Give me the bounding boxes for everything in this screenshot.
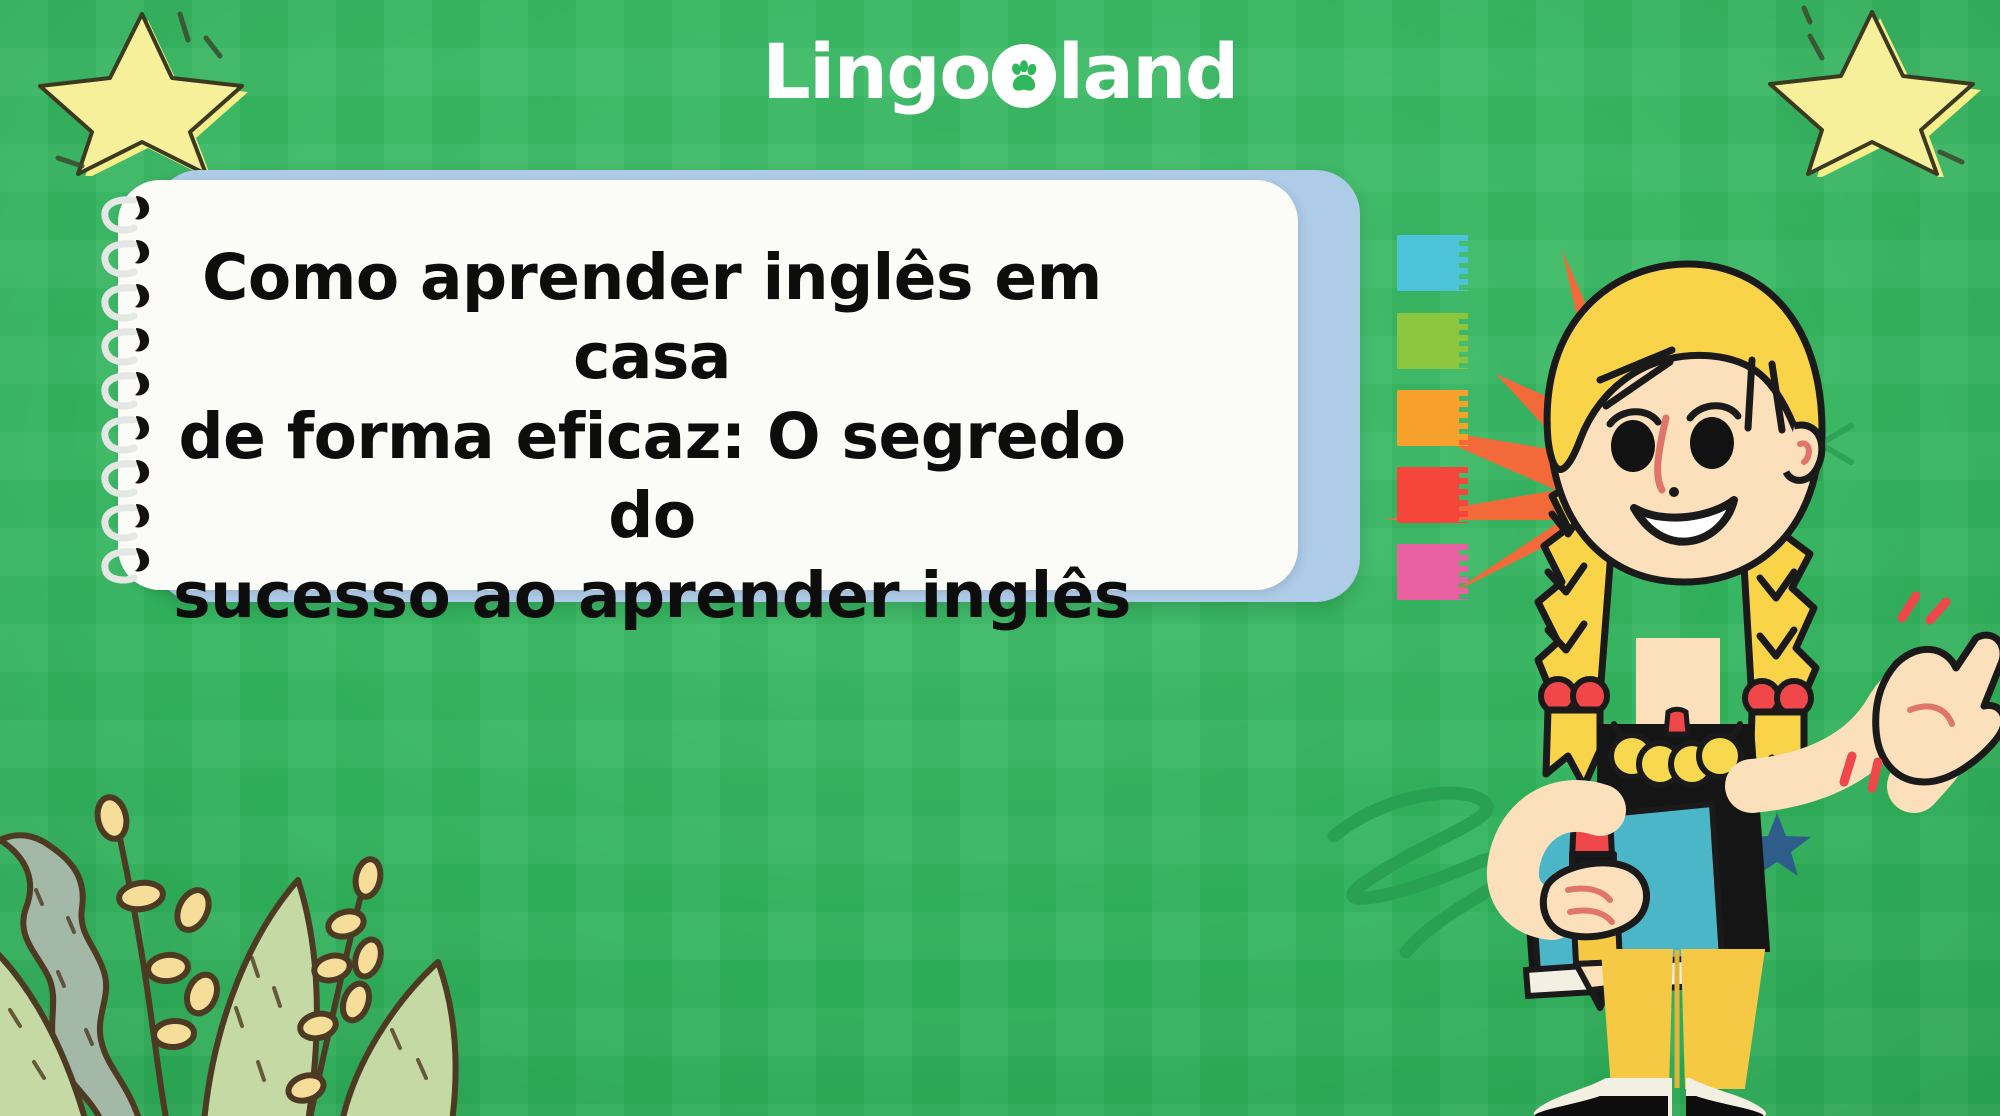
- paw-print-icon: [992, 44, 1056, 108]
- notebook-page: Como aprender inglês em casa de forma ef…: [118, 180, 1298, 590]
- title-line-2: de forma eficaz: O segredo do: [166, 397, 1138, 556]
- title-line-1: Como aprender inglês em casa: [166, 238, 1138, 397]
- banner-canvas: Lingo land Como aprender inglês em casa …: [0, 0, 2000, 1116]
- brand-name-prefix: Lingo: [762, 34, 990, 110]
- notebook-tab-orange[interactable]: [1397, 390, 1459, 446]
- page-title: Como aprender inglês em casa de forma ef…: [166, 238, 1138, 635]
- notebook-tab-pink[interactable]: [1397, 544, 1459, 600]
- notebook-tab-red[interactable]: [1397, 467, 1459, 523]
- leaves-plant-decoration: [0, 762, 460, 1116]
- spiral-binding: [88, 184, 198, 584]
- brand-logo: Lingo land: [0, 34, 2000, 110]
- title-line-3: sucesso ao aprender inglês: [166, 556, 1138, 635]
- title-notebook-card: Como aprender inglês em casa de forma ef…: [110, 170, 1330, 610]
- brand-name-suffix: land: [1058, 34, 1238, 110]
- notebook-tab-cyan[interactable]: [1397, 235, 1459, 291]
- notebook-tab-green[interactable]: [1397, 313, 1459, 369]
